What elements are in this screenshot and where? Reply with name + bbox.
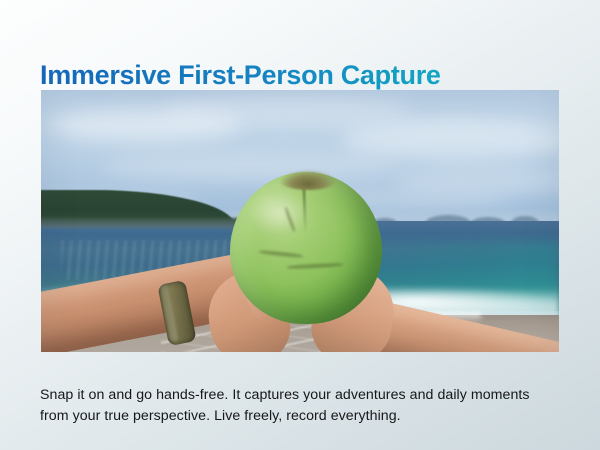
slide-root: Immersive First-Person Capture (0, 0, 600, 450)
cloud-icon (341, 120, 559, 160)
green-coconut (230, 172, 382, 324)
headland-base (41, 218, 247, 228)
coconut-stem-crown (279, 170, 337, 190)
cloud-icon (161, 96, 411, 122)
hero-image (41, 90, 559, 352)
page-title: Immersive First-Person Capture (40, 58, 560, 92)
coconut-highlight (247, 190, 309, 234)
body-paragraph: Snap it on and go hands-free. It capture… (40, 385, 555, 427)
cloud-icon (101, 152, 401, 182)
